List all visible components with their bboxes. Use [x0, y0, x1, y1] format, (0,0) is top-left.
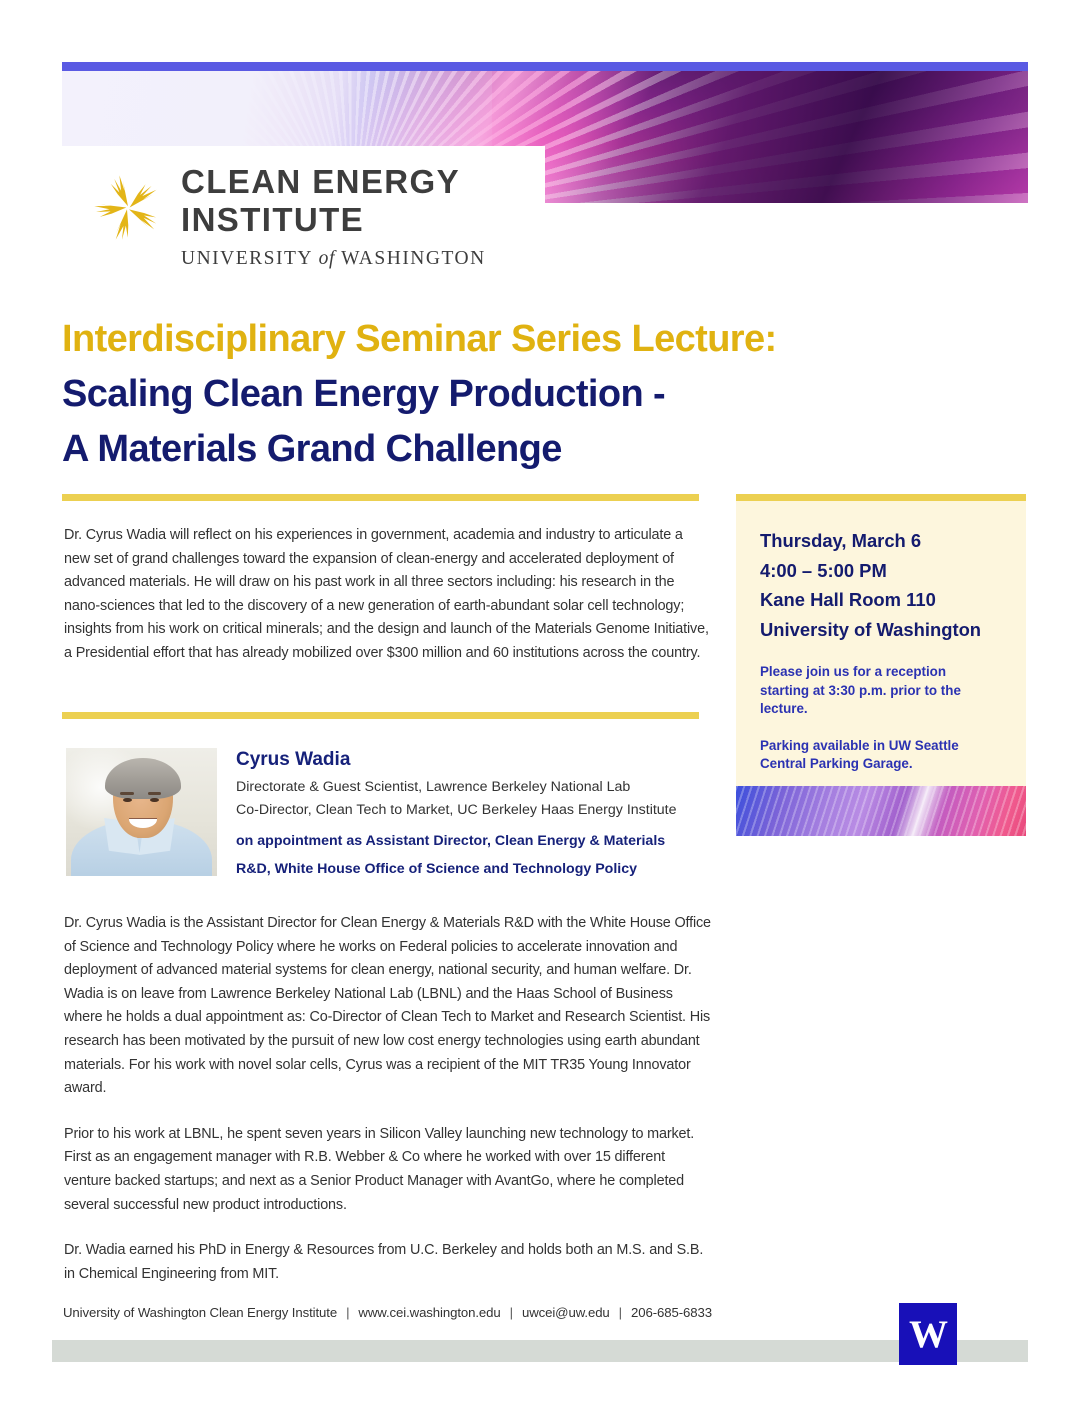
bio-paragraph-1: Dr. Cyrus Wadia is the Assistant Directo…	[64, 912, 712, 1101]
speaker-appointment-line-1: on appointment as Assistant Director, Cl…	[236, 827, 736, 855]
footer-website[interactable]: www.cei.washington.edu	[358, 1305, 500, 1320]
sidebar-abstract-art	[736, 786, 1026, 836]
footer-separator-2: |	[501, 1305, 522, 1320]
title-line-series: Interdisciplinary Seminar Series Lecture…	[62, 312, 1012, 367]
event-reception-note: Please join us for a reception starting …	[760, 663, 992, 719]
uw-w-logo: W	[899, 1303, 957, 1365]
bio-paragraph-2: Prior to his work at LBNL, he spent seve…	[64, 1123, 712, 1217]
footer-separator-3: |	[610, 1305, 631, 1320]
footer-email[interactable]: uwcei@uw.edu	[522, 1305, 610, 1320]
logo-sub-post: WASHINGTON	[341, 248, 486, 269]
speaker-info: Cyrus Wadia Directorate & Guest Scientis…	[236, 748, 736, 883]
speaker-portrait	[66, 748, 217, 876]
uw-w-glyph: W	[909, 1315, 947, 1354]
speaker-role-line-1: Directorate & Guest Scientist, Lawrence …	[236, 776, 736, 799]
speaker-name: Cyrus Wadia	[236, 748, 736, 772]
sunburst-icon	[85, 165, 171, 251]
title-line-main-1: Scaling Clean Energy Production -	[62, 367, 1012, 422]
title-line-main-2: A Materials Grand Challenge	[62, 422, 1012, 477]
speaker-appointment-line-2: R&D, White House Office of Science and T…	[236, 855, 736, 883]
logo-sub-italic: of	[319, 248, 335, 269]
event-date: Thursday, March 6	[760, 526, 1014, 556]
footer-contact-line: University of Washington Clean Energy In…	[63, 1305, 712, 1320]
logo-sub-pre: UNIVERSITY	[181, 248, 312, 269]
footer-org: University of Washington Clean Energy In…	[63, 1305, 337, 1320]
logo-line-2: INSTITUTE	[181, 201, 486, 239]
footer-gray-bar	[52, 1340, 1028, 1362]
event-time: 4:00 – 5:00 PM	[760, 556, 1014, 586]
speaker-role-line-2: Co-Director, Clean Tech to Market, UC Be…	[236, 799, 736, 822]
logo-line-1: CLEAN ENERGY	[181, 163, 486, 201]
event-institution: University of Washington	[760, 615, 1014, 645]
event-details-box: Thursday, March 6 4:00 – 5:00 PM Kane Ha…	[736, 494, 1026, 786]
logo-subtitle: UNIVERSITY of WASHINGTON	[181, 248, 486, 270]
divider-rule-speaker	[62, 712, 699, 719]
event-box-top-bar	[736, 494, 1026, 501]
clean-energy-institute-logo: CLEAN ENERGY INSTITUTE UNIVERSITY of WAS…	[85, 163, 505, 283]
footer-phone: 206-685-6833	[631, 1305, 712, 1320]
speaker-biography: Dr. Cyrus Wadia is the Assistant Directo…	[64, 912, 712, 1286]
lecture-abstract: Dr. Cyrus Wadia will reflect on his expe…	[64, 524, 712, 666]
bio-paragraph-3: Dr. Wadia earned his PhD in Energy & Res…	[64, 1239, 712, 1286]
logo-wordmark: CLEAN ENERGY INSTITUTE UNIVERSITY of WAS…	[181, 163, 486, 270]
footer-separator-1: |	[337, 1305, 358, 1320]
divider-rule-top	[62, 494, 699, 501]
sidebar-art-gradient	[736, 786, 1026, 836]
page-title: Interdisciplinary Seminar Series Lecture…	[62, 312, 1012, 477]
event-venue: Kane Hall Room 110	[760, 585, 1014, 615]
event-parking-note: Parking available in UW Seattle Central …	[760, 737, 992, 774]
speaker-appointment: on appointment as Assistant Director, Cl…	[236, 827, 736, 883]
banner-top-stripe	[62, 62, 1028, 71]
